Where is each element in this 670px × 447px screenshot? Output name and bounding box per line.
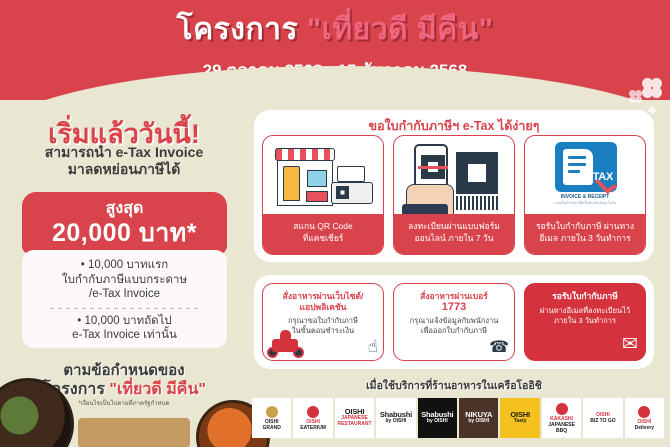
wooden-board-photo (78, 418, 190, 447)
caption-line1: รอรับใบกำกับภาษี ผ่านทาง (525, 221, 645, 233)
logos-caption: เมื่อใช้บริการที่ร้านอาหารในเครือโออิชิ (254, 377, 654, 394)
bullet-1-line3: /e-Tax Invoice (28, 287, 221, 302)
brand-line2: JAPANESE BBQ (543, 422, 580, 434)
qr-code-icon (336, 186, 349, 199)
hand-phone-qr-scan-icon (394, 136, 514, 216)
scan-line-icon (418, 166, 448, 169)
channel-title: สั่งอาหารผ่านเบอร์ 1773 (394, 291, 514, 312)
caption-line2: ออนไลน์ ภายใน 7 วัน (394, 233, 514, 245)
delivery-scooter-icon (266, 330, 306, 358)
bullet-2-line2: e-Tax Invoice เท่านั้น (28, 328, 221, 343)
channel-title-line1: สั่งอาหารผ่านเว็บไซต์/ (263, 291, 383, 302)
etax-howto-title: ขอใบกำกับภาษีฯ e-Tax ได้ง่ายๆ (254, 116, 654, 136)
ordering-channels-panel: สั่งอาหารผ่านเว็บไซต์/ แอปพลิเคชัน กรุณา… (254, 275, 654, 369)
brand-line2: by OISHI (468, 418, 489, 424)
channel-sub-line2: ภายใน 3 วันทำการ (525, 316, 645, 326)
brand-line2: GRAND (263, 425, 281, 431)
step-card-caption: สแกน QR Code ที่แคชเชียร์ (263, 214, 383, 254)
scooter-rider (280, 330, 291, 342)
channel-title: รอรับใบกำกับภาษี (525, 291, 645, 302)
etax-howto-panel: ขอใบกำกับภาษีฯ e-Tax ได้ง่ายๆ (254, 110, 654, 262)
title-accent: "เที่ยวดี มีคืน" (307, 13, 494, 46)
brand-mark-icon (556, 403, 568, 415)
step-card-register-online[interactable]: ลงทะเบียนผ่านแบบฟอร์ม ออนไลน์ ภายใน 7 วั… (393, 135, 515, 255)
channel-sub: ผ่านทางอีเมลที่ลงทะเบียนไว้ ภายใน 3 วันท… (525, 306, 645, 326)
amount-value: 20,000 บาท* (22, 218, 227, 248)
caption-line1: สแกน QR Code (263, 221, 383, 233)
lead-subtext-line1: สามารถนำ e-Tax Invoice (0, 144, 248, 161)
lead-subtext: สามารถนำ e-Tax Invoice มาลดหย่อนภาษีได้ (0, 144, 248, 178)
step-card-receive-email[interactable]: e-TAX INVOICE & RECEIPT ระบบใบกำกับภาษีอ… (524, 135, 646, 255)
brand-mark-icon (307, 406, 319, 418)
pos-screen (337, 166, 365, 182)
brand-line2: JAPANESE RESTAURANT (336, 415, 373, 427)
bullet-divider (50, 308, 200, 309)
sparkle-icon (648, 106, 656, 114)
telephone-handset-icon: ☎ (489, 337, 509, 357)
brand-logo-nikuya: NIKUYA by OISHI (459, 398, 498, 438)
terms-name-accent: "เที่ยวดี มีคืน" (109, 381, 206, 398)
channel-title: สั่งอาหารผ่านเว็บไซต์/ แอปพลิเคชัน (263, 291, 383, 312)
brand-line2: by OISHI (427, 418, 448, 424)
step-card-caption: รอรับใบกำกับภาษี ผ่านทาง อีเมล ภายใน 3 ว… (525, 214, 645, 254)
poster-header: โครงการ "เที่ยวดี มีคืน" 29 ตุลาคม 2568 … (0, 0, 670, 100)
brand-line2: Delivery (635, 425, 654, 431)
brand-logo-oishi-biz-to-go: OISHI BIZ TO GO (583, 398, 622, 438)
storefront-pos-qr-icon (263, 136, 383, 216)
shop-shelf-icon (306, 191, 328, 202)
barcode-icon (456, 196, 498, 210)
brand-logo-kakashi: KAKASHI JAPANESE BBQ (542, 398, 581, 438)
channel-title-line1: สั่งอาหารผ่านเบอร์ (394, 291, 514, 302)
brand-line2: Tasty (514, 418, 527, 424)
page-title: โครงการ "เที่ยวดี มีคืน" (0, 13, 670, 47)
benefit-bullets: • 10,000 บาทแรก ใบกำกับภาษีแบบกระดาษ /e-… (22, 250, 227, 348)
brand-mark-icon (638, 406, 650, 418)
brand-logo-shabushi: Shabushi by OISHI (376, 398, 415, 438)
brand-line2: EATERIUM (300, 425, 326, 431)
ordering-channel-cards: สั่งอาหารผ่านเว็บไซต์/ แอปพลิเคชัน กรุณา… (262, 283, 646, 361)
bullet-1-line2: ใบกำกับภาษีแบบกระดาษ (28, 273, 221, 288)
brand-logo-oishi-ramen: OISHI JAPANESE RESTAURANT (335, 398, 374, 438)
channel-sub-line1: กรุณาขอใบกำกับภาษี (263, 316, 383, 326)
bullet-1-line1: • 10,000 บาทแรก (28, 258, 221, 273)
channel-sub-line2: เพื่อออกใบกำกับภาษี (394, 326, 514, 336)
pointer-hand-icon: ☝ (368, 337, 378, 357)
etax-logo-subtitle: INVOICE & RECEIPT ระบบใบกำกับภาษีอิเล็กท… (525, 194, 645, 206)
storefront-icon (275, 148, 335, 206)
etax-step-cards: สแกน QR Code ที่แคชเชียร์ ลงทะเบียนผ่ (262, 135, 646, 255)
etax-sub-tiny: ระบบใบกำกับภาษีอิเล็กทรอนิกส์และใบรับ (525, 200, 645, 206)
brand-logos-row: OISHI GRAND OISHI EATERIUM OISHI JAPANES… (252, 398, 664, 438)
shop-door-icon (283, 166, 300, 201)
max-amount-badge: สูงสุด 20,000 บาท* (22, 192, 227, 254)
brand-logo-oishi-grand: OISHI GRAND (252, 398, 291, 438)
brand-line2: BIZ TO GO (590, 418, 615, 424)
brand-logo-oishi-eaterium: OISHI EATERIUM (293, 398, 332, 438)
brand-line2: by OISHI (386, 418, 407, 424)
amount-label: สูงสุด (22, 199, 227, 218)
brand-mark-icon (266, 406, 278, 418)
channel-sub-line1: กรุณาแจ้งข้อมูลกับพนักงาน (394, 316, 514, 326)
channel-title-line1: รอรับใบกำกับภาษี (525, 291, 645, 302)
e-tax-document-icon: e-TAX INVOICE & RECEIPT ระบบใบกำกับภาษีอ… (525, 136, 645, 216)
step-card-caption: ลงทะเบียนผ่านแบบฟอร์ม ออนไลน์ ภายใน 7 วั… (394, 214, 514, 254)
lead-subtext-line2: มาลดหย่อนภาษีได้ (0, 161, 248, 178)
channel-card-phone[interactable]: สั่งอาหารผ่านเบอร์ 1773 กรุณาแจ้งข้อมูลก… (393, 283, 515, 361)
title-prefix: โครงการ (177, 13, 307, 46)
channel-card-email[interactable]: รอรับใบกำกับภาษี ผ่านทางอีเมลที่ลงทะเบีย… (524, 283, 646, 361)
brand-logo-shabushi-black: Shabushi by OISHI (418, 398, 457, 438)
caption-line1: ลงทะเบียนผ่านแบบฟอร์ม (394, 221, 514, 233)
promo-poster: โครงการ "เที่ยวดี มีคืน" 29 ตุลาคม 2568 … (0, 0, 670, 447)
bullet-2-line1: • 10,000 บาทถัดไป (28, 314, 221, 329)
caption-line2: อีเมล ภายใน 3 วันทำการ (525, 233, 645, 245)
envelope-mail-icon: ✉ (622, 333, 638, 356)
brand-logo-oishi-delivery: OISHI Delivery (625, 398, 664, 438)
channel-title-line2: แอปพลิเคชัน (263, 302, 383, 313)
step-card-scan-qr[interactable]: สแกน QR Code ที่แคชเชียร์ (262, 135, 384, 255)
pos-terminal-icon (331, 166, 375, 206)
large-qr-code-icon (456, 152, 498, 194)
channel-sub-line1: ผ่านทางอีเมลที่ลงทะเบียนไว้ (525, 306, 645, 316)
hotline-number: 1773 (394, 302, 514, 313)
channel-card-online[interactable]: สั่งอาหารผ่านเว็บไซต์/ แอปพลิเคชัน กรุณา… (262, 283, 384, 361)
channel-sub: กรุณาแจ้งข้อมูลกับพนักงาน เพื่อออกใบกำกั… (394, 316, 514, 336)
etax-logo: e-TAX (555, 142, 617, 192)
shop-awning (275, 148, 335, 161)
caption-line2: ที่แคชเชียร์ (263, 233, 383, 245)
brand-logo-oishi-tasty: OISHI Tasty (500, 398, 539, 438)
shop-window-icon (307, 170, 327, 187)
